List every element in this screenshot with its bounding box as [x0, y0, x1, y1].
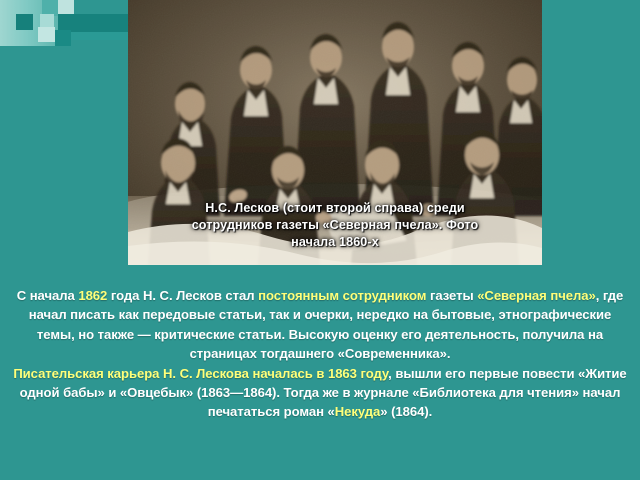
highlighted-text-run: Некуда	[335, 404, 381, 419]
photo-caption-line-1: Н.С. Лесков (стоит второй справа) среди	[128, 200, 542, 217]
deco-square-pale-lower	[38, 27, 55, 42]
photo-caption-line-2: сотрудников газеты «Северная пчела». Фот…	[128, 217, 542, 234]
slide-canvas: Н.С. Лесков (стоит второй справа) среди …	[0, 0, 640, 480]
highlighted-text-run: Писательская карьера Н. С. Лескова начал…	[13, 366, 388, 381]
deco-horizontal-bar	[58, 14, 130, 32]
text-run: С начала	[17, 288, 79, 303]
deco-square-pale-mid	[40, 14, 54, 27]
text-run: года Н. С. Лесков стал	[107, 288, 258, 303]
deco-square-mid-upper	[42, 0, 58, 16]
deco-gradient-band	[0, 0, 62, 46]
corner-pixel-motif	[0, 0, 130, 46]
body-paragraph-2: Писательская карьера Н. С. Лескова начал…	[12, 364, 628, 422]
text-run: » (1864).	[380, 404, 432, 419]
text-run: газеты	[426, 288, 477, 303]
body-text: С начала 1862 года Н. С. Лесков стал пос…	[12, 286, 628, 422]
deco-square-pale-top	[58, 0, 74, 14]
highlighted-text-run: 1862	[78, 288, 107, 303]
body-paragraph-1: С начала 1862 года Н. С. Лесков стал пос…	[12, 286, 628, 364]
deco-square-dark-left	[16, 14, 33, 30]
deco-square-dark-lower	[55, 30, 71, 46]
highlighted-text-run: «Северная пчела»	[477, 288, 596, 303]
highlighted-text-run: постоянным сотрудником	[258, 288, 426, 303]
photo-caption-line-3: начала 1860-х	[128, 234, 542, 251]
photo-caption: Н.С. Лесков (стоит второй справа) среди …	[128, 200, 542, 251]
deco-bar-right-tail	[71, 32, 130, 40]
